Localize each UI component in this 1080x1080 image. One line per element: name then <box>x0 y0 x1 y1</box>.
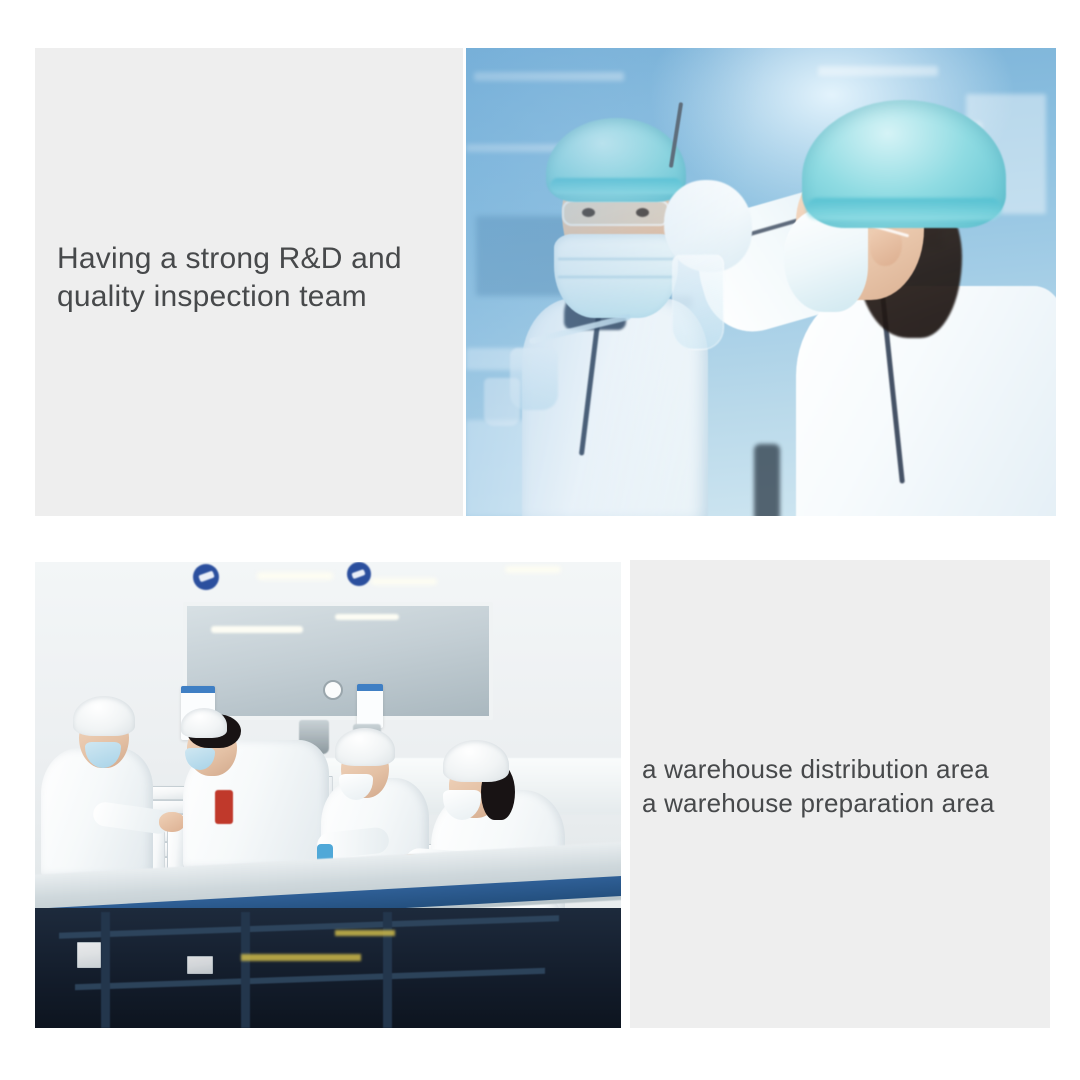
photo-haze-overlay <box>466 48 1056 516</box>
packer-one-hairnet <box>73 696 135 736</box>
table-leg <box>101 912 110 1028</box>
blue-safety-sign <box>193 564 219 590</box>
floor-box <box>77 942 101 968</box>
table-leg <box>241 912 250 1028</box>
packer-one-hand <box>159 812 185 832</box>
floor-box <box>187 956 213 974</box>
floor-marking <box>241 954 361 961</box>
rd-quality-inspection-photo <box>466 48 1056 516</box>
red-item <box>215 790 233 824</box>
wall-placard <box>357 684 383 728</box>
blue-safety-sign <box>347 562 371 586</box>
floor-marking <box>335 930 395 936</box>
slide-canvas: Having a strong R&D and quality inspecti… <box>0 0 1080 1080</box>
packer-four-hairnet <box>443 740 509 782</box>
window-light-strip <box>335 614 399 620</box>
ceiling-light <box>371 578 437 585</box>
warehouse-packing-photo <box>35 562 621 1028</box>
packer-three-hairnet <box>335 728 395 766</box>
packer-two-hairnet <box>181 708 227 738</box>
top-caption-text: Having a strong R&D and quality inspecti… <box>57 240 457 316</box>
ceiling-light <box>505 566 561 573</box>
wall-clock <box>323 680 343 700</box>
window-light-strip <box>211 626 303 633</box>
ceiling-light <box>257 572 333 580</box>
bottom-caption-text: a warehouse distribution area a warehous… <box>642 752 1052 820</box>
